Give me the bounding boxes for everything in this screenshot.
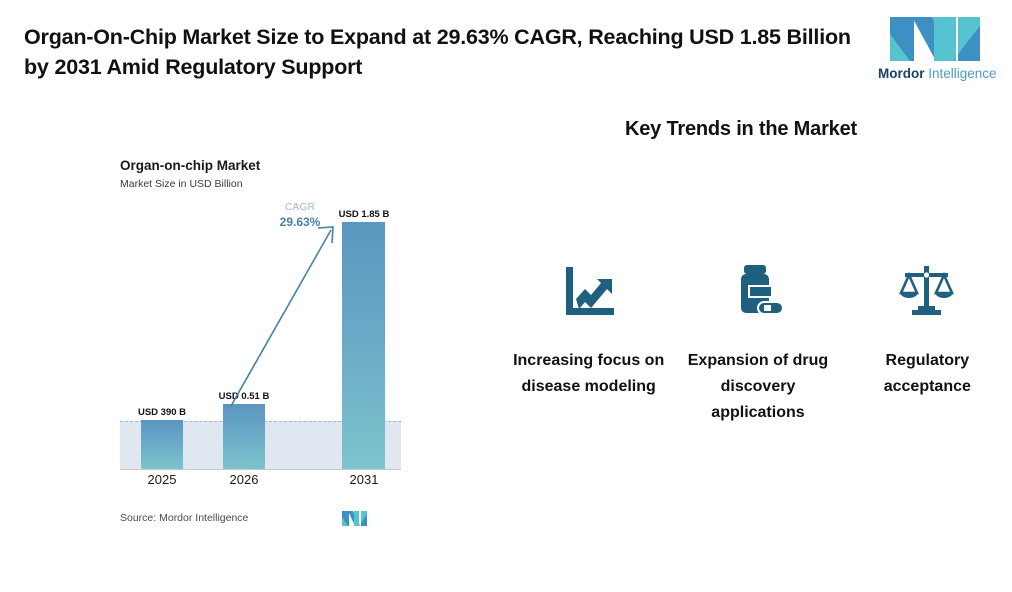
page-title: Organ-On-Chip Market Size to Expand at 2… [24,22,864,82]
bar-value-label-2025: USD 390 B [114,407,210,418]
bar-2026 [223,404,265,469]
pill-bottle-icon [729,260,787,322]
mordor-intelligence-small-logo-icon [342,510,368,527]
trend-label-1: Increasing focus on disease modeling [509,348,669,400]
balance-scale-icon [898,260,956,322]
chart-source-row: Source: Mordor Intelligence [120,510,401,530]
chart-subtitle: Market Size in USD Billion [120,178,243,190]
chart-plot-area: USD 390 B USD 0.51 B USD 1.85 B CAGR 29.… [120,208,401,470]
trend-item-2: Expansion of drug discovery applications [673,260,842,426]
infographic-page: Organ-On-Chip Market Size to Expand at 2… [0,0,1012,592]
brand-wordmark: Mordor Intelligence [878,66,996,82]
bar-2031 [342,222,385,469]
key-trends-grid: Increasing focus on disease modeling Exp… [504,260,1012,426]
bar-2025 [141,420,183,469]
bar-value-label-2026: USD 0.51 B [196,391,292,402]
brand-name-secondary: Intelligence [925,66,997,81]
brand-name-primary: Mordor [878,66,925,81]
cagr-label: CAGR [262,200,338,215]
chart-panel: Organ-on-chip Market Market Size in USD … [104,150,409,540]
trend-label-3: Regulatory acceptance [847,348,1007,400]
key-trends-panel: Key Trends in the Market Increasing focu… [470,110,1012,490]
chart-source-text: Source: Mordor Intelligence [120,512,248,524]
cagr-annotation: CAGR 29.63% [262,200,338,230]
x-tick-2026: 2026 [196,472,292,487]
growth-chart-icon [560,260,618,322]
brand-logo: Mordor Intelligence [878,14,996,86]
cagr-value: 29.63% [262,215,338,230]
mordor-intelligence-logo-icon [888,14,986,64]
trend-item-3: Regulatory acceptance [843,260,1012,400]
trend-label-2: Expansion of drug discovery applications [678,348,838,426]
key-trends-title: Key Trends in the Market [470,118,1012,141]
chart-title: Organ-on-chip Market [120,158,260,173]
x-axis-line [120,469,401,470]
trend-item-1: Increasing focus on disease modeling [504,260,673,400]
header: Organ-On-Chip Market Size to Expand at 2… [0,0,1012,103]
x-axis-tick-labels: 2025 2026 2031 [120,472,401,494]
x-tick-2031: 2031 [316,472,412,487]
